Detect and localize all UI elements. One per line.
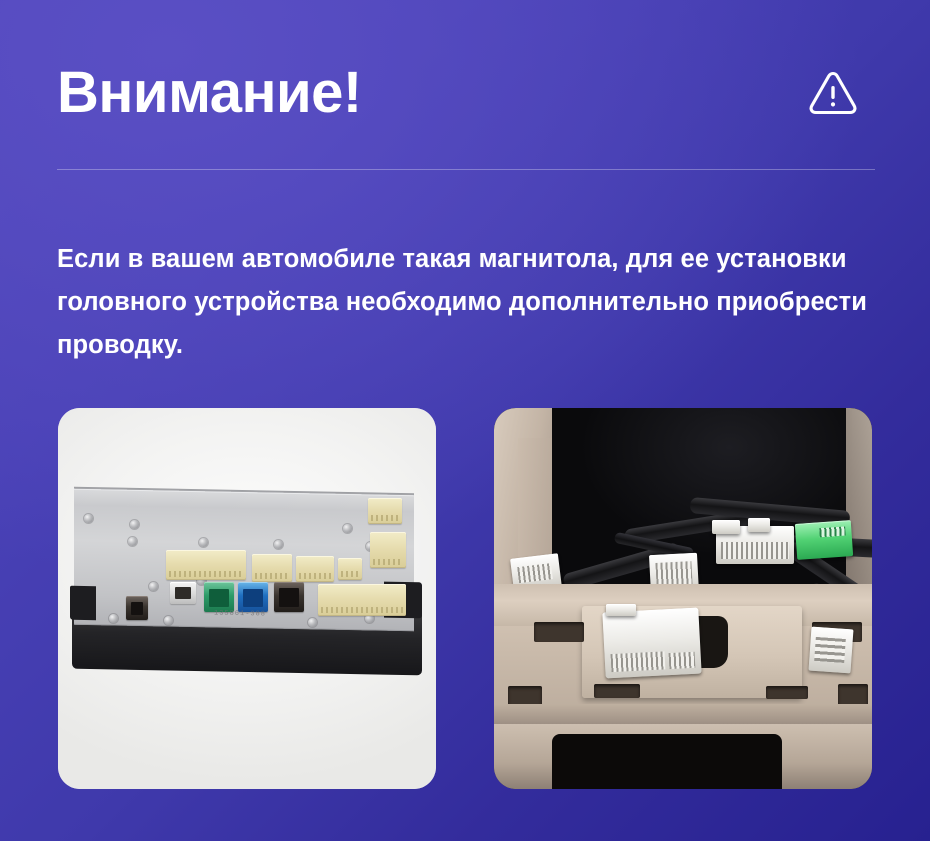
cream-connector-edge-top: [368, 498, 402, 524]
chassis-screw: [199, 538, 208, 547]
gray-jack: [170, 582, 196, 604]
body-paragraph: Если в вашем автомобиле такая магнитола,…: [57, 238, 881, 367]
dashboard-tray-lip: [494, 704, 872, 724]
head-unit-body: 135861-388: [66, 490, 428, 686]
green-connector: [795, 520, 853, 560]
connector-pins: [721, 542, 789, 559]
connector-latch: [606, 604, 636, 616]
tray-side-slot: [838, 684, 868, 706]
tray-vent: [534, 622, 584, 642]
connector-latch: [712, 520, 740, 534]
connector-pins: [814, 637, 846, 663]
connector-pins: [517, 563, 553, 583]
black-connector: [274, 582, 304, 612]
chassis-screw: [130, 520, 139, 529]
header-divider: [57, 169, 875, 170]
cream-connector: [296, 556, 334, 582]
connector-pins: [611, 651, 666, 672]
cream-connector-edge-middle: [370, 532, 406, 568]
chassis-screw: [274, 540, 283, 549]
chassis-stamp-label: 135861-388: [214, 610, 266, 619]
slide-header: Внимание!: [57, 52, 875, 134]
tray-slot: [594, 684, 640, 698]
wiring-harness-photo: [494, 408, 872, 789]
connector-latch: [748, 518, 770, 532]
chassis-screw: [84, 514, 93, 523]
blue-connector: [238, 582, 268, 612]
warning-triangle-icon: [807, 67, 859, 119]
cream-connector-small: [338, 558, 362, 580]
wiring-harness-image-card: [494, 408, 872, 789]
head-unit-left-corner: [70, 586, 96, 620]
white-connector-large: [602, 608, 701, 679]
chassis-screw: [164, 616, 173, 625]
chassis-screw: [308, 618, 317, 627]
tray-slot: [766, 686, 808, 699]
warning-slide: Внимание! Если в вашем автомобиле такая …: [0, 0, 930, 841]
white-connector-right: [809, 627, 854, 674]
page-title: Внимание!: [57, 64, 362, 122]
chassis-screw: [149, 582, 158, 591]
green-connector: [204, 582, 234, 612]
head-unit-photo: 135861-388: [58, 408, 436, 789]
head-unit-image-card: 135861-388: [58, 408, 436, 789]
connector-pins: [669, 652, 696, 669]
cream-connector-edge-bottom: [318, 584, 406, 616]
dashboard-lower-gap: [552, 734, 782, 789]
black-jack-left: [126, 596, 148, 620]
cream-connector-wide: [166, 550, 246, 580]
cream-connector: [252, 554, 292, 582]
chassis-screw: [109, 614, 118, 623]
image-card-row: 135861-388: [58, 408, 872, 789]
chassis-screw: [343, 524, 352, 533]
connector-pins: [819, 526, 846, 537]
chassis-screw: [128, 537, 137, 546]
